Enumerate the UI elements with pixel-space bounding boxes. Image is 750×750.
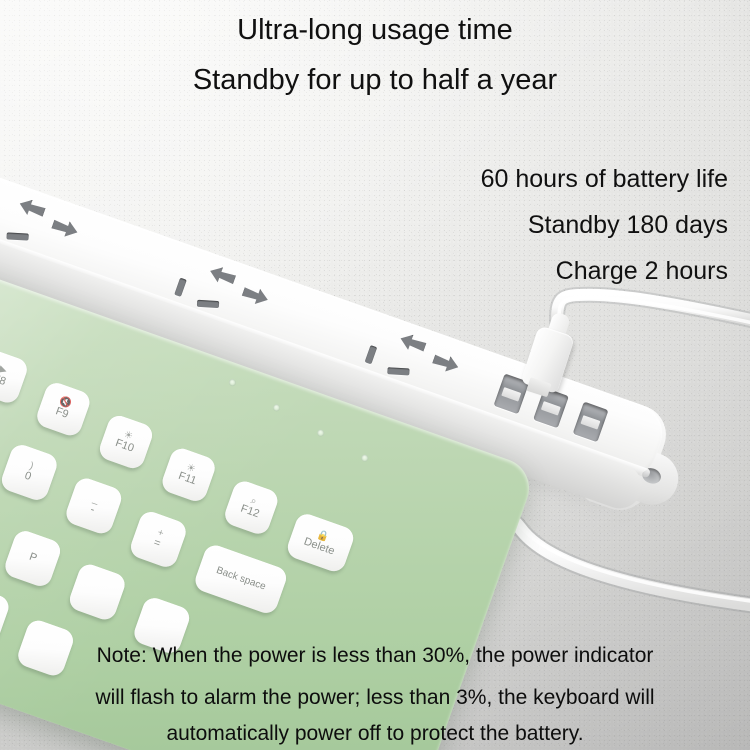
socket-pin-right	[241, 284, 271, 308]
key-backspace[interactable]: Back space	[192, 542, 289, 616]
key-glyph: _	[91, 495, 100, 507]
key-0[interactable]: ) 0	[0, 442, 60, 503]
indicator-light-3	[316, 429, 325, 438]
indicator-light-1	[228, 378, 237, 387]
note-line-3: automatically power off to protect the b…	[0, 722, 750, 746]
key-f12[interactable]: ⌕ F12	[222, 478, 281, 537]
headline-line-2: Standby for up to half a year	[0, 64, 750, 97]
note-line-2: will flash to alarm the power; less than…	[0, 686, 750, 710]
socket-pin-neutral	[174, 278, 187, 297]
key-minus[interactable]: _ -	[63, 475, 124, 536]
key-f10[interactable]: ☀ F10	[97, 413, 156, 472]
spec-standby: Standby 180 days	[528, 211, 728, 240]
headline-line-1: Ultra-long usage time	[0, 14, 750, 47]
key-bracket-left[interactable]	[67, 561, 128, 622]
key-label: 0	[23, 471, 33, 484]
spec-battery-life: 60 hours of battery life	[481, 165, 728, 194]
socket-pin-live	[387, 367, 409, 375]
key-label: P	[27, 552, 38, 565]
key-f9[interactable]: 🔇 F9	[34, 380, 93, 439]
key-glyph: ⌕	[249, 496, 258, 508]
key-label: Back space	[215, 566, 267, 593]
key-f11[interactable]: ☀ F11	[159, 445, 218, 504]
socket-pin-right	[50, 216, 80, 240]
socket-pin-left	[17, 196, 47, 220]
note-line-1: Note: When the power is less than 30%, t…	[0, 644, 750, 668]
indicator-light-2	[272, 403, 281, 412]
socket-pin-neutral	[365, 345, 378, 364]
socket-pin-right	[431, 351, 461, 375]
product-marketing-image: ⮌ F5 ❖ F6 ◀◀ F7 ▶ F8 🔇 F9 ☀ F10	[0, 0, 750, 750]
key-f8[interactable]: ▶ F8	[0, 347, 30, 406]
socket-pin-live	[197, 300, 219, 308]
socket-pin-left	[207, 264, 237, 288]
key-p[interactable]: P	[2, 528, 63, 589]
spec-charge-time: Charge 2 hours	[556, 257, 728, 286]
socket-pin-live	[6, 232, 28, 240]
socket-pin-left	[398, 331, 428, 355]
key-glyph: +	[156, 528, 165, 540]
key-glyph: )	[28, 462, 35, 473]
key-label: -	[88, 505, 95, 517]
key-equal[interactable]: + =	[128, 509, 189, 570]
key-semicolon[interactable]	[0, 584, 12, 645]
key-glyph: ▶	[0, 365, 8, 377]
indicator-light-4	[360, 454, 369, 463]
key-delete[interactable]: 🔒 Delete	[285, 511, 357, 574]
